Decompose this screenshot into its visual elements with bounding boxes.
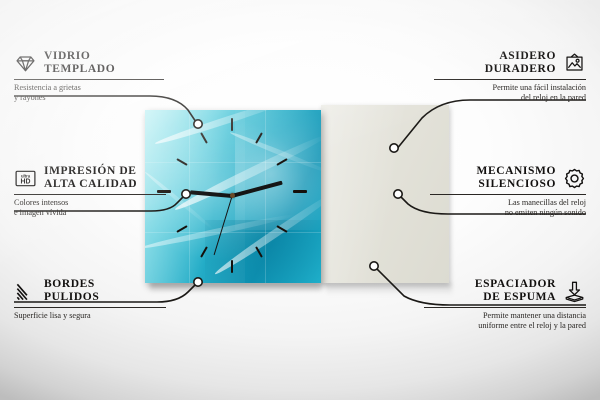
callout-title-line1: ASIDERO (499, 50, 556, 63)
callout-description: Resistencia a grietas y rayones (14, 83, 164, 103)
callout-title-line2: DE ESPUMA (483, 291, 556, 304)
callout-title-line2: SILENCIOSO (478, 178, 556, 191)
callout-divider (424, 307, 586, 308)
callout-heading: ASIDERO DURADERO (434, 50, 586, 76)
callout-heading: BORDES PULIDOS (14, 278, 166, 304)
callout-description: Permite mantener una distancia uniforme … (424, 311, 586, 331)
callout-title-line1: BORDES (44, 278, 99, 291)
callout-heading: VIDRIO TEMPLADO (14, 50, 164, 76)
svg-text:HD: HD (21, 178, 31, 185)
callout-impresion-alta-calidad[interactable]: ultra HD IMPRESIÓN DE ALTA CALIDAD Color… (14, 165, 166, 218)
clock-glass-gloss (145, 110, 321, 283)
infographic-canvas: AA 1.5V (0, 0, 600, 400)
callout-bordes-pulidos[interactable]: BORDES PULIDOS Superficie lisa y segura (14, 278, 166, 321)
ultra-hd-icon: ultra HD (14, 167, 37, 190)
callout-espaciador-de-espuma[interactable]: ESPACIADOR DE ESPUMA Permite mantener un… (424, 278, 586, 331)
callout-title-line2: TEMPLADO (44, 63, 115, 76)
callout-heading: MECANISMO SILENCIOSO (430, 165, 586, 191)
callout-description: Permite una fácil instalación del reloj … (434, 83, 586, 103)
foam-spacer-icon (563, 280, 586, 303)
gear-icon (563, 167, 586, 190)
callout-title-line1: ESPACIADOR (475, 278, 556, 291)
callout-heading: ultra HD IMPRESIÓN DE ALTA CALIDAD (14, 165, 166, 191)
callout-description: Colores intensos e imagen vívida (14, 198, 166, 218)
callout-vidrio-templado[interactable]: VIDRIO TEMPLADO Resistencia a grietas y … (14, 50, 164, 103)
callout-title-line1: VIDRIO (44, 50, 115, 63)
callout-title-line2: DURADERO (485, 63, 556, 76)
callout-description: Las manecillas del reloj no emiten ningú… (430, 198, 586, 218)
callout-title-line2: ALTA CALIDAD (44, 178, 137, 191)
wall-clock (145, 110, 321, 283)
callout-asidero-duradero[interactable]: ASIDERO DURADERO Permite una fácil insta… (434, 50, 586, 103)
callout-divider (14, 79, 164, 80)
callout-title-line1: MECANISMO (476, 165, 556, 178)
callout-divider (14, 194, 166, 195)
callout-description: Superficie lisa y segura (14, 311, 166, 321)
callout-divider (434, 79, 586, 80)
clock-shadow (150, 283, 322, 293)
callout-title-line2: PULIDOS (44, 291, 99, 304)
callout-heading: ESPACIADOR DE ESPUMA (424, 278, 586, 304)
picture-hanger-icon (563, 52, 586, 75)
callout-divider (430, 194, 586, 195)
diamond-icon (14, 52, 37, 75)
callout-divider (14, 307, 166, 308)
callout-title-line1: IMPRESIÓN DE (44, 165, 137, 178)
callout-mecanismo-silencioso[interactable]: MECANISMO SILENCIOSO Las manecillas del … (430, 165, 586, 218)
polished-edges-icon (14, 280, 37, 303)
